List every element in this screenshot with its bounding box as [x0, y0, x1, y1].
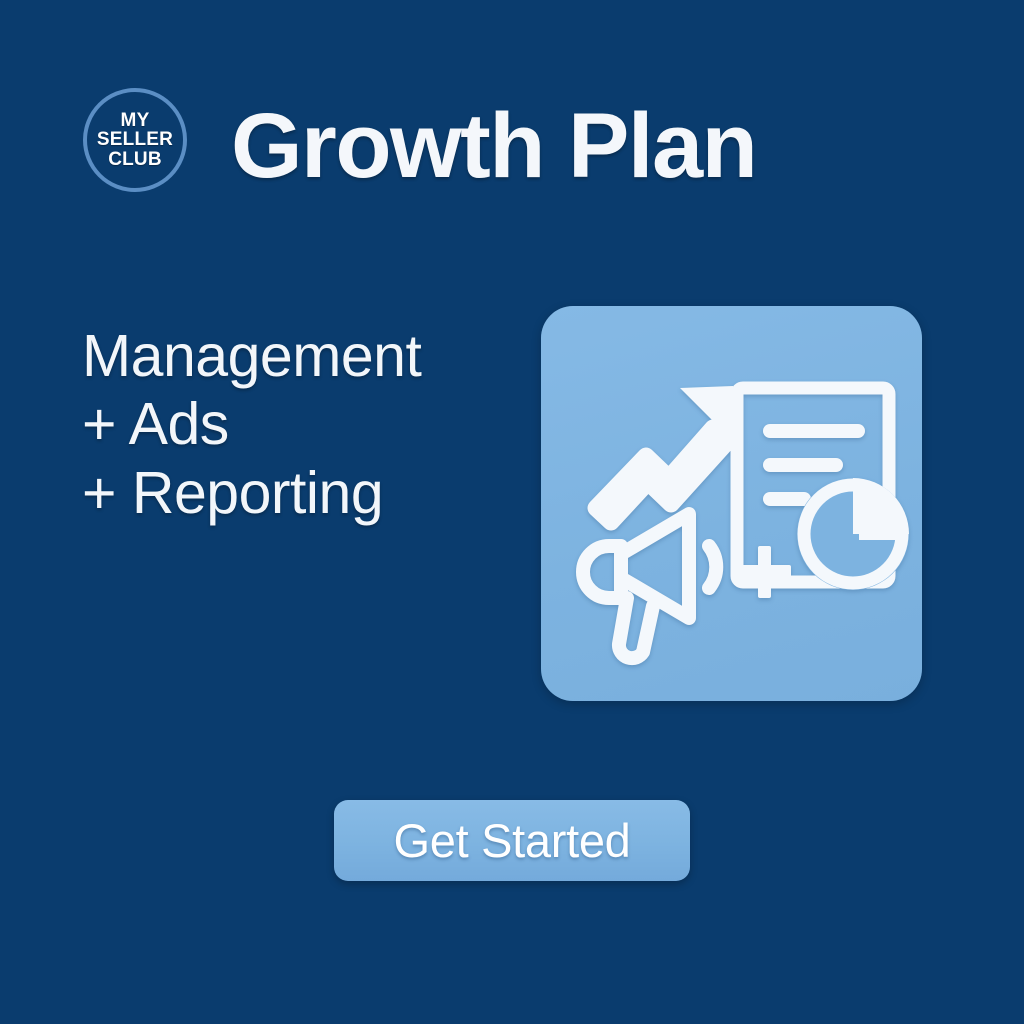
megaphone-icon — [583, 514, 716, 658]
page-title: Growth Plan — [231, 100, 756, 192]
my-seller-club-logo: MY SELLER CLUB — [83, 88, 187, 192]
get-started-button[interactable]: Get Started — [334, 800, 690, 881]
feature-line-management: Management — [82, 322, 502, 390]
logo-line-seller: SELLER — [97, 130, 173, 149]
feature-line-reporting: + Reporting — [82, 459, 502, 527]
trending-up-arrow-icon — [596, 386, 733, 522]
growth-plan-icon-card — [541, 306, 922, 701]
plus-icon — [739, 546, 791, 598]
logo-line-club: CLUB — [108, 150, 162, 169]
growth-plan-promo-canvas: MY SELLER CLUB Growth Plan Management + … — [0, 0, 1024, 1024]
feature-line-ads: + Ads — [82, 390, 502, 458]
feature-list: Management + Ads + Reporting — [82, 322, 502, 527]
logo-line-my: MY — [121, 111, 150, 130]
pie-chart-icon — [797, 478, 909, 590]
